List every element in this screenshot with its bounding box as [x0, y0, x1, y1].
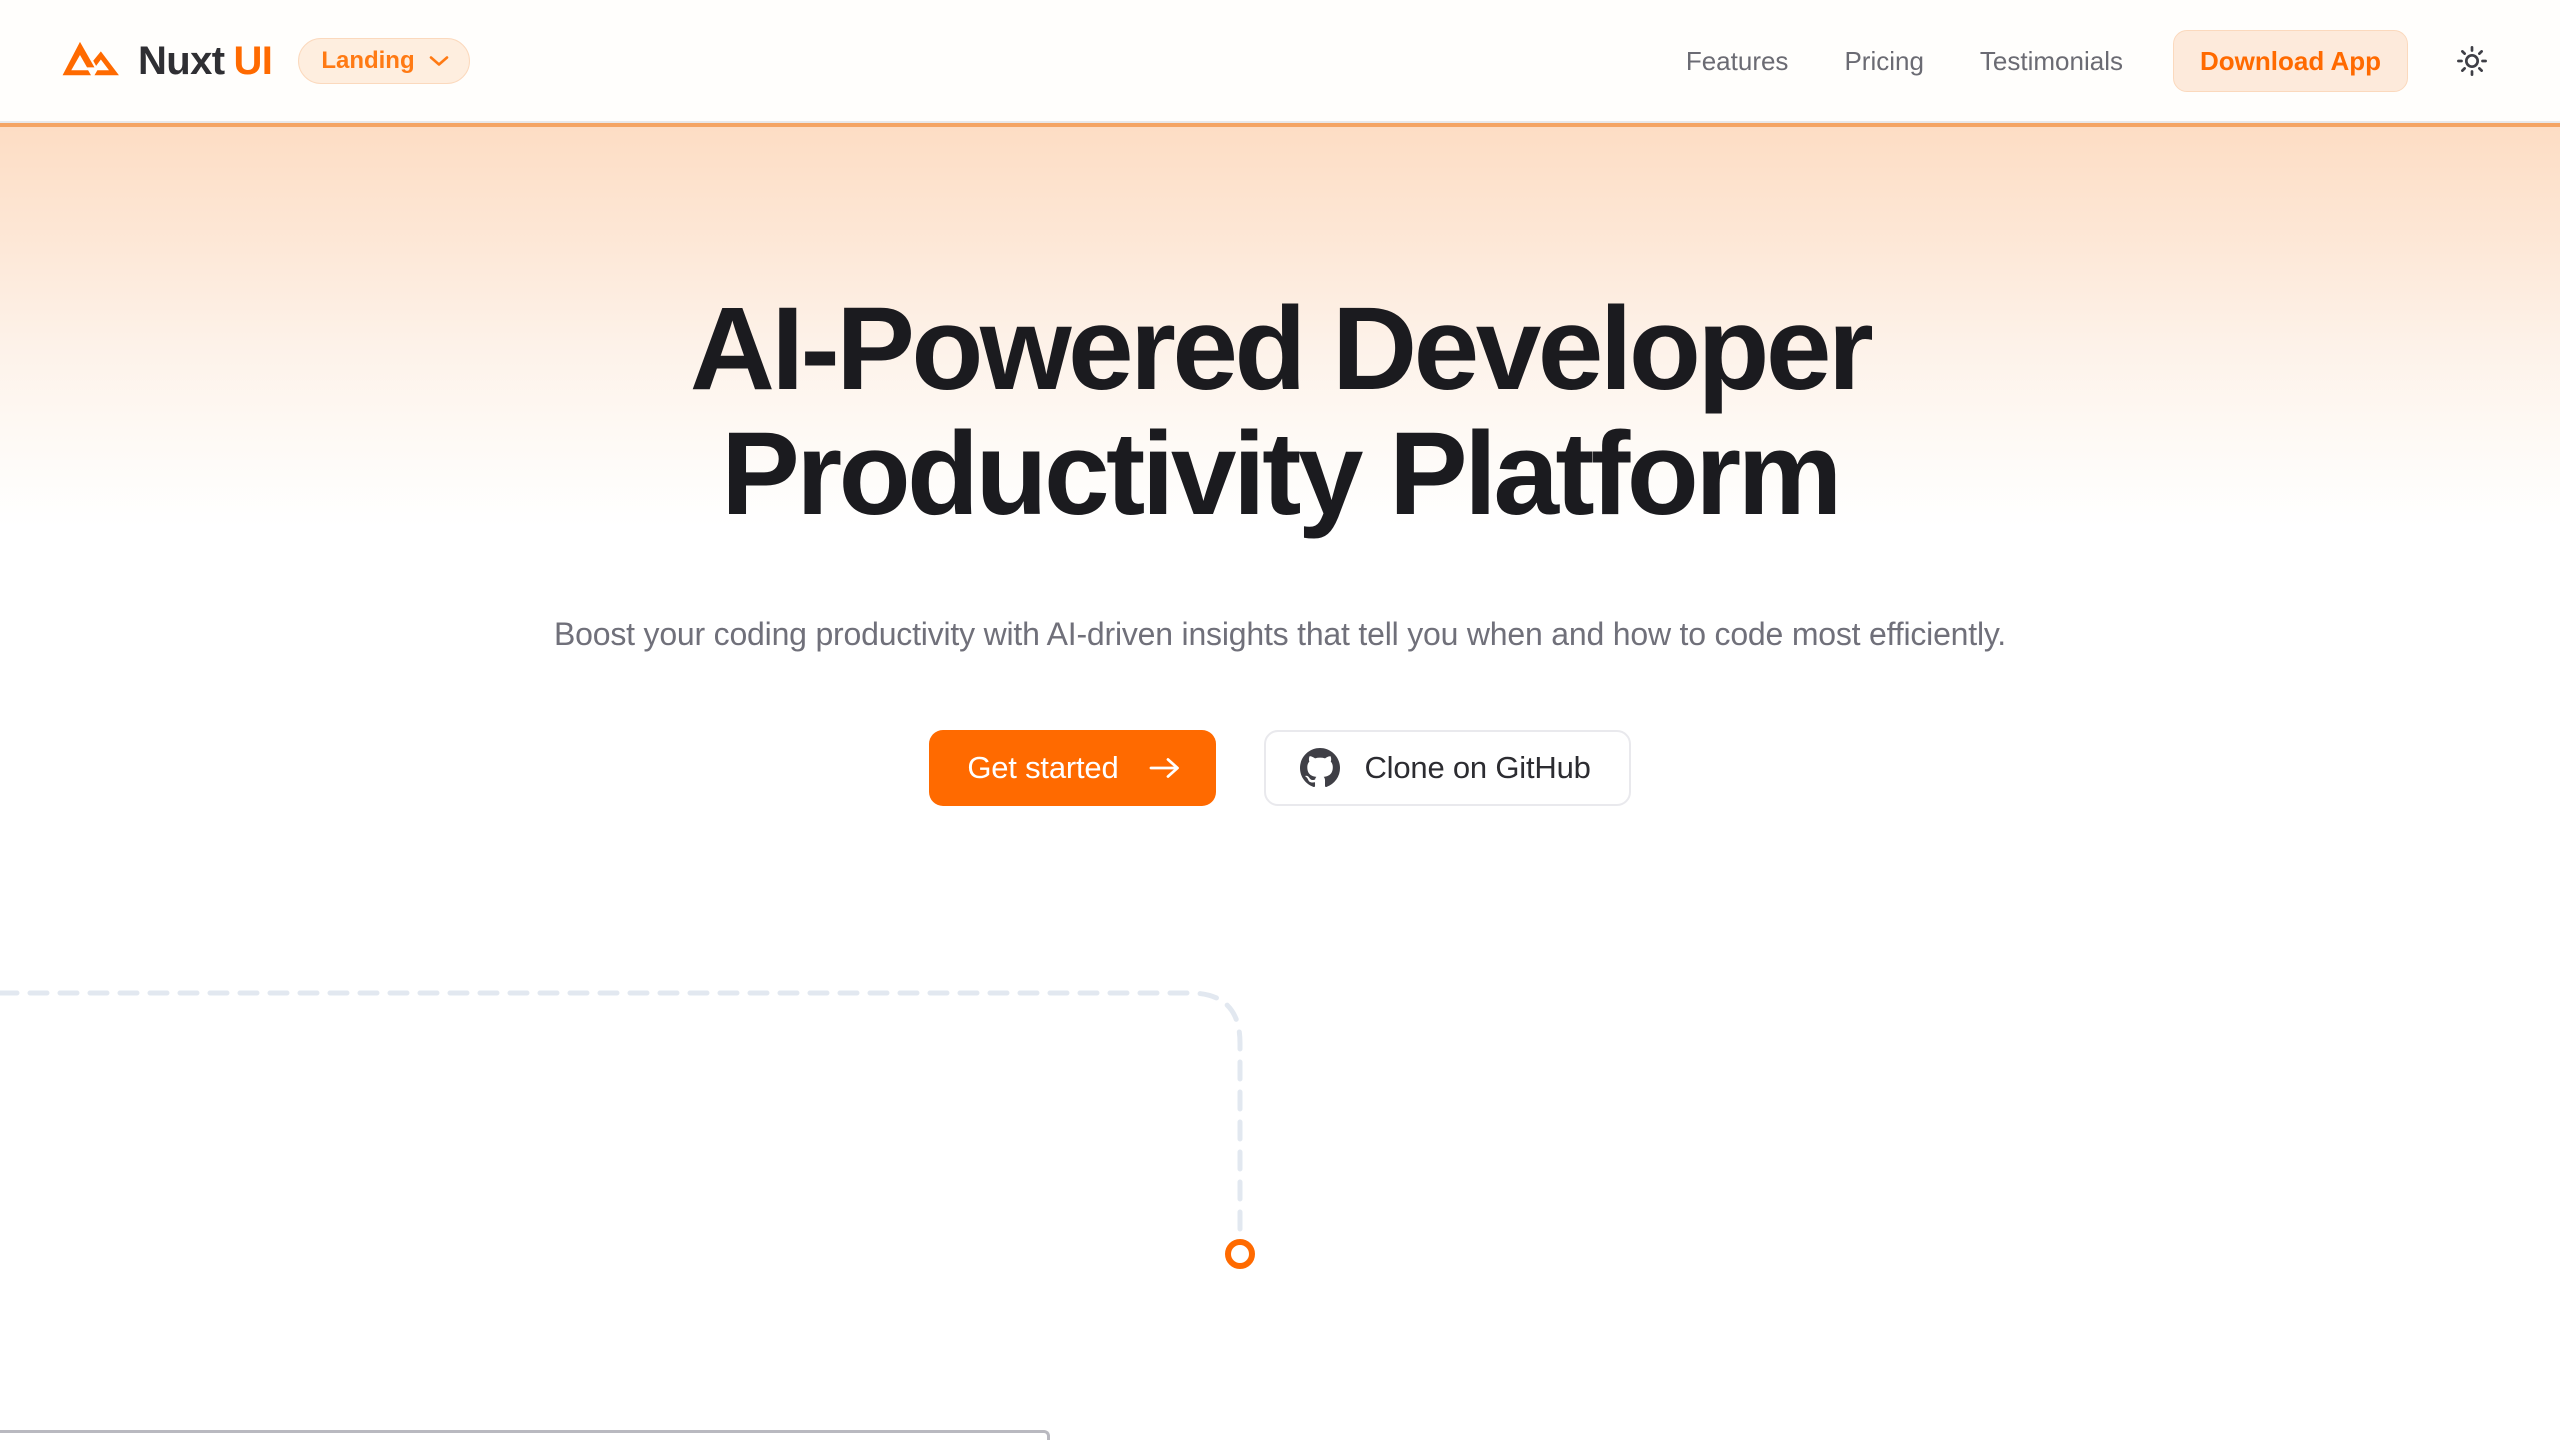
clone-on-github-label: Clone on GitHub — [1364, 752, 1590, 783]
brand-name-accent: UI — [234, 39, 273, 83]
header-accent-line — [0, 123, 2560, 127]
hero-section: AI-Powered Developer Productivity Platfo… — [0, 127, 2560, 806]
get-started-button[interactable]: Get started — [929, 730, 1216, 806]
download-app-button[interactable]: Download App — [2173, 30, 2408, 92]
theme-toggle-button[interactable] — [2446, 35, 2498, 87]
clone-on-github-button[interactable]: Clone on GitHub — [1264, 730, 1630, 806]
brand-name-primary: Nuxt — [138, 39, 225, 83]
landing-page: NuxtUI Landing Features Pricing Testimon… — [0, 0, 2560, 1440]
arrow-right-icon — [1148, 753, 1182, 783]
hero-subtitle: Boost your coding productivity with AI-d… — [0, 611, 2560, 657]
nuxt-mountain-logo-icon — [62, 39, 120, 83]
dashed-connector-path — [0, 993, 1240, 1238]
page-title: AI-Powered Developer Productivity Platfo… — [470, 287, 2090, 537]
primary-navigation: Features Pricing Testimonials Download A… — [1658, 30, 2498, 92]
connector-end-node — [1228, 1242, 1252, 1266]
get-started-label: Get started — [967, 752, 1118, 783]
brand-group: NuxtUI Landing — [62, 38, 470, 84]
site-header: NuxtUI Landing Features Pricing Testimon… — [0, 0, 2560, 123]
hero-title-line-1: AI-Powered Developer — [690, 283, 1870, 415]
nav-link-pricing[interactable]: Pricing — [1816, 48, 1951, 74]
landing-dropdown-label: Landing — [321, 49, 414, 73]
landing-dropdown-button[interactable]: Landing — [298, 38, 469, 84]
github-icon — [1300, 748, 1340, 788]
nav-link-testimonials[interactable]: Testimonials — [1952, 48, 2151, 74]
sun-icon — [2455, 44, 2489, 78]
chevron-down-icon — [429, 55, 449, 67]
hero-cta-group: Get started Clone on GitHub — [0, 730, 2560, 806]
hero-title-line-2: Productivity Platform — [721, 408, 1839, 540]
dashed-connector-graphic — [0, 960, 1400, 1300]
brand-name: NuxtUI — [138, 41, 272, 81]
nav-link-features[interactable]: Features — [1658, 48, 1817, 74]
brand-home-link[interactable]: NuxtUI — [62, 39, 272, 83]
bottom-panel-edge — [0, 1430, 1050, 1440]
